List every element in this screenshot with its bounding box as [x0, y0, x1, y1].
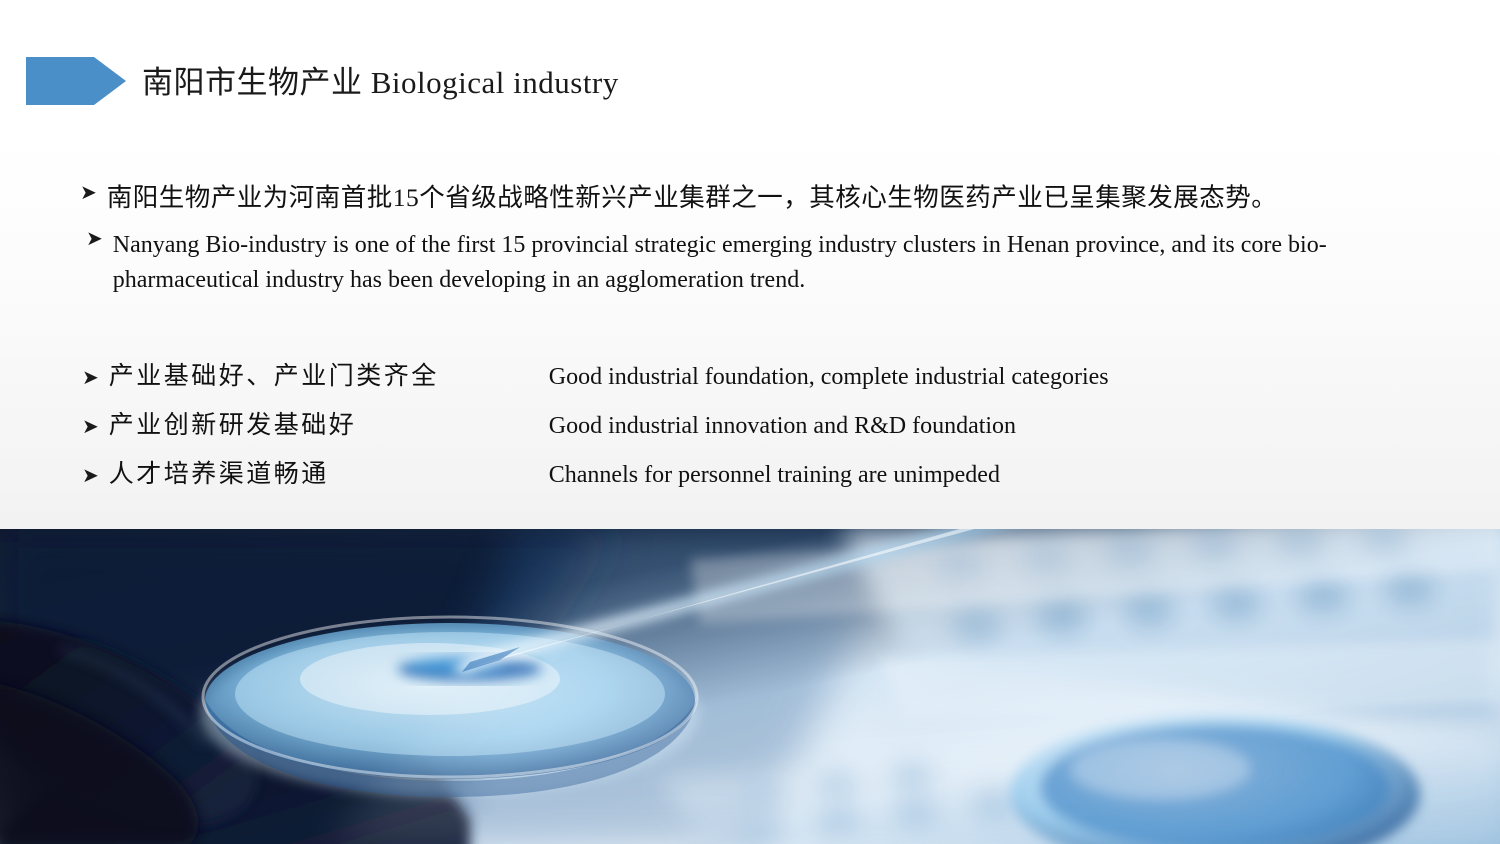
paragraph-chinese: ➤ 南阳生物产业为河南首批15个省级战略性新兴产业集群之一，其核心生物医药产业已… [80, 182, 1480, 214]
list-item-label-english: Channels for personnel training are unim… [549, 462, 1000, 489]
list-item: ➤ 产业创新研发基础好 Good industrial innovation a… [82, 405, 1422, 441]
paragraph-chinese-text: 南阳生物产业为河南首批15个省级战略性新兴产业集群之一，其核心生物医药产业已呈集… [107, 182, 1278, 214]
bullet-arrow-icon: ➤ [82, 367, 99, 389]
paragraph-english-text: Nanyang Bio-industry is one of the first… [113, 228, 1399, 298]
slide-header: 南阳市生物产业 Biological industry [0, 0, 1500, 140]
bullet-arrow-icon: ➤ [86, 228, 103, 250]
laboratory-petri-dish-pipette-photo [0, 529, 1500, 844]
list-item-label-chinese: 人才培养渠道畅通 [109, 454, 549, 490]
content-panel: ➤ 南阳生物产业为河南首批15个省级战略性新兴产业集群之一，其核心生物医药产业已… [0, 140, 1500, 529]
slide: 南阳市生物产业 Biological industry ➤ 南阳生物产业为河南首… [0, 0, 1500, 844]
list-item: ➤ 人才培养渠道畅通 Channels for personnel traini… [82, 454, 1422, 490]
paragraph-english: ➤ Nanyang Bio-industry is one of the fir… [86, 228, 1406, 298]
list-item: ➤ 产业基础好、产业门类齐全 Good industrial foundatio… [82, 356, 1422, 392]
list-item-label-chinese: 产业基础好、产业门类齐全 [109, 356, 549, 392]
list-item-label-english: Good industrial innovation and R&D found… [549, 413, 1016, 440]
chevron-right-arrow-shape [26, 53, 126, 109]
list-item-label-chinese: 产业创新研发基础好 [109, 405, 549, 441]
bullet-arrow-icon: ➤ [82, 465, 99, 487]
page-title: 南阳市生物产业 Biological industry [142, 57, 619, 102]
list-item-label-english: Good industrial foundation, complete ind… [549, 364, 1109, 391]
bullet-arrow-icon: ➤ [82, 416, 99, 438]
bullet-arrow-icon: ➤ [80, 182, 97, 204]
